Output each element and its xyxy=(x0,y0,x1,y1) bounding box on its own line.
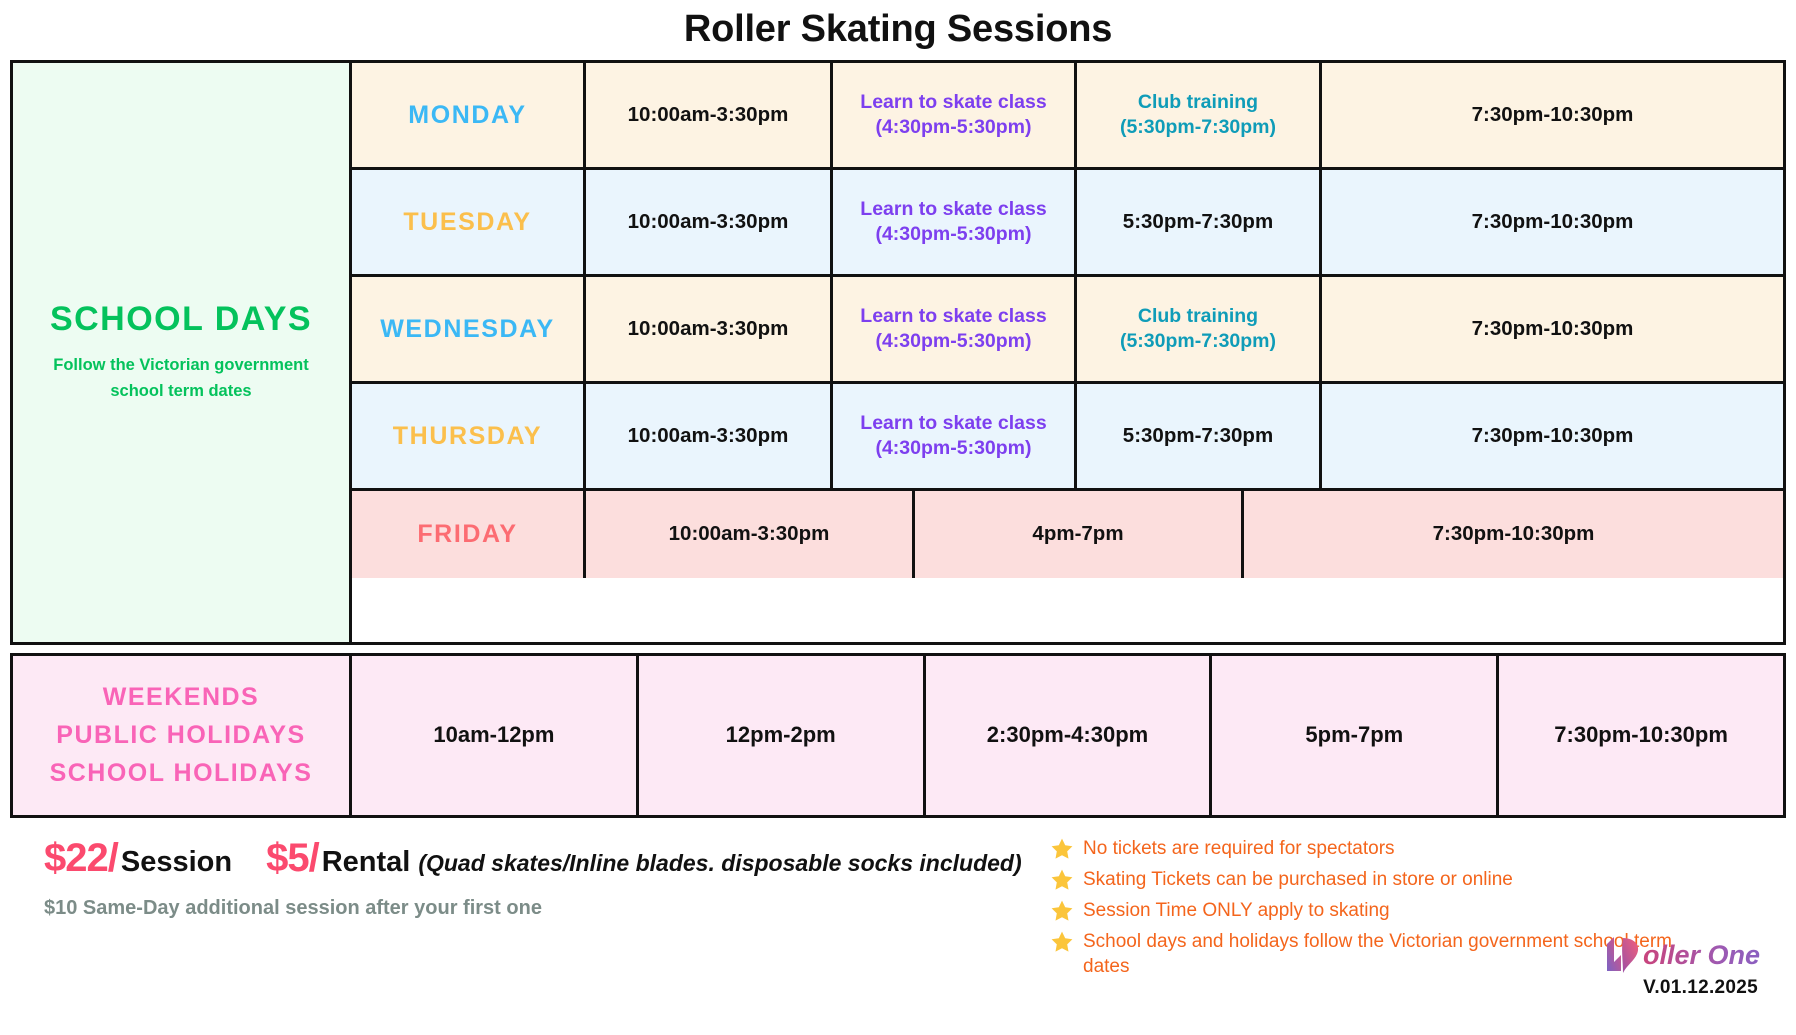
session-time: 10:00am-3:30pm xyxy=(628,102,789,128)
session-time-cell: 5:30pm-7:30pm xyxy=(1074,170,1319,274)
club-training-text: Club training(5:30pm-7:30pm) xyxy=(1120,90,1276,140)
note-item: No tickets are required for spectators xyxy=(1050,836,1760,861)
session-time-cell: 10:00am-3:30pm xyxy=(583,384,830,488)
weekends-label-line: SCHOOL HOLIDAYS xyxy=(50,754,313,792)
rental-price-note: (Quad skates/Inline blades. disposable s… xyxy=(418,850,1021,877)
session-time: 7:30pm-10:30pm xyxy=(1472,316,1634,342)
line-1: Club training xyxy=(1120,90,1276,115)
session-time: 7:30pm-10:30pm xyxy=(1433,521,1595,547)
footer: $22/ Session $5/ Rental (Quad skates/Inl… xyxy=(10,836,1786,985)
learn-to-skate-cell: Learn to skate class(4:30pm-5:30pm) xyxy=(830,384,1074,488)
session-price-amount: $22/ xyxy=(44,836,118,881)
note-item: Session Time ONLY apply to skating xyxy=(1050,898,1760,923)
day-label: TUESDAY xyxy=(403,206,531,238)
weekends-label-panel: WEEKENDSPUBLIC HOLIDAYSSCHOOL HOLIDAYS xyxy=(13,656,352,815)
session-time-cell: 4pm-7pm xyxy=(912,491,1241,578)
weekend-session-time-cell: 12pm-2pm xyxy=(636,656,923,815)
learn-to-skate-text: Learn to skate class(4:30pm-5:30pm) xyxy=(860,90,1046,140)
session-time-cell: 5:30pm-7:30pm xyxy=(1074,384,1319,488)
day-row-friday: FRIDAY10:00am-3:30pm4pm-7pm7:30pm-10:30p… xyxy=(352,488,1783,578)
line-2: (4:30pm-5:30pm) xyxy=(860,436,1046,461)
pricing-block: $22/ Session $5/ Rental (Quad skates/Inl… xyxy=(44,836,1044,920)
line-2: (5:30pm-7:30pm) xyxy=(1120,115,1276,140)
day-name-cell: TUESDAY xyxy=(352,170,583,274)
day-label: FRIDAY xyxy=(417,518,517,550)
day-name-cell: MONDAY xyxy=(352,63,583,167)
weekend-session-time: 7:30pm-10:30pm xyxy=(1554,722,1728,748)
learn-to-skate-cell: Learn to skate class(4:30pm-5:30pm) xyxy=(830,277,1074,381)
day-label: WEDNESDAY xyxy=(380,313,555,345)
session-time-cell: 10:00am-3:30pm xyxy=(583,277,830,381)
day-name-cell: FRIDAY xyxy=(352,491,583,578)
session-time-cell: 10:00am-3:30pm xyxy=(583,63,830,167)
price-line: $22/ Session $5/ Rental (Quad skates/Inl… xyxy=(44,836,1044,881)
page-title: Roller Skating Sessions xyxy=(10,0,1786,60)
weekend-session-time-cell: 2:30pm-4:30pm xyxy=(923,656,1210,815)
note-text: Skating Tickets can be purchased in stor… xyxy=(1083,867,1513,892)
star-icon xyxy=(1050,930,1074,954)
brand-version: V.01.12.2025 xyxy=(1530,977,1758,999)
school-days-panel: SCHOOL DAYS Follow the Victorian governm… xyxy=(13,63,352,642)
day-name-cell: WEDNESDAY xyxy=(352,277,583,381)
weekends-schedule: WEEKENDSPUBLIC HOLIDAYSSCHOOL HOLIDAYS 1… xyxy=(10,653,1786,818)
weekend-session-time: 12pm-2pm xyxy=(726,722,836,748)
day-row-wednesday: WEDNESDAY10:00am-3:30pmLearn to skate cl… xyxy=(352,274,1783,381)
notes-block: No tickets are required for spectatorsSk… xyxy=(1044,836,1760,985)
session-time: 7:30pm-10:30pm xyxy=(1472,102,1634,128)
weekday-rows: MONDAY10:00am-3:30pmLearn to skate class… xyxy=(352,63,1783,642)
line-2: (4:30pm-5:30pm) xyxy=(860,222,1046,247)
weekend-session-time: 2:30pm-4:30pm xyxy=(987,722,1148,748)
learn-to-skate-text: Learn to skate class(4:30pm-5:30pm) xyxy=(860,304,1046,354)
weekend-session-time: 5pm-7pm xyxy=(1305,722,1403,748)
learn-to-skate-text: Learn to skate class(4:30pm-5:30pm) xyxy=(860,197,1046,247)
brand-row: oller One xyxy=(1530,935,1760,975)
line-1: Learn to skate class xyxy=(860,304,1046,329)
session-time: 5:30pm-7:30pm xyxy=(1123,423,1273,449)
star-icon xyxy=(1050,868,1074,892)
session-time-cell: 10:00am-3:30pm xyxy=(583,170,830,274)
session-time-cell: 10:00am-3:30pm xyxy=(583,491,912,578)
session-time: 7:30pm-10:30pm xyxy=(1472,423,1634,449)
schedule-poster: Roller Skating Sessions SCHOOL DAYS Foll… xyxy=(0,0,1796,1035)
star-icon xyxy=(1050,899,1074,923)
note-item: Skating Tickets can be purchased in stor… xyxy=(1050,867,1760,892)
session-time-cell: 7:30pm-10:30pm xyxy=(1319,63,1783,167)
star-icon xyxy=(1050,837,1074,861)
weekends-label-line: PUBLIC HOLIDAYS xyxy=(56,716,305,754)
line-2: (5:30pm-7:30pm) xyxy=(1120,329,1276,354)
weekends-times: 10am-12pm12pm-2pm2:30pm-4:30pm5pm-7pm7:3… xyxy=(352,656,1783,815)
rental-price-unit: Rental xyxy=(322,846,411,879)
session-time-cell: 7:30pm-10:30pm xyxy=(1319,384,1783,488)
weekends-label-line: WEEKENDS xyxy=(103,678,259,716)
same-day-note: $10 Same-Day additional session after yo… xyxy=(44,897,1044,920)
weekend-session-time-cell: 5pm-7pm xyxy=(1209,656,1496,815)
weekend-session-time-cell: 7:30pm-10:30pm xyxy=(1496,656,1783,815)
brand-block: oller One V.01.12.2025 xyxy=(1530,935,1760,999)
line-1: Learn to skate class xyxy=(860,197,1046,222)
school-days-heading: SCHOOL DAYS xyxy=(50,300,312,339)
day-label: THURSDAY xyxy=(393,420,542,452)
session-time: 10:00am-3:30pm xyxy=(628,423,789,449)
line-1: Learn to skate class xyxy=(860,411,1046,436)
school-days-schedule: SCHOOL DAYS Follow the Victorian governm… xyxy=(10,60,1786,645)
note-text: Session Time ONLY apply to skating xyxy=(1083,898,1390,923)
session-time: 10:00am-3:30pm xyxy=(628,316,789,342)
line-1: Learn to skate class xyxy=(860,90,1046,115)
club-training-cell: Club training(5:30pm-7:30pm) xyxy=(1074,63,1319,167)
session-time: 5:30pm-7:30pm xyxy=(1123,209,1273,235)
learn-to-skate-text: Learn to skate class(4:30pm-5:30pm) xyxy=(860,411,1046,461)
weekend-session-time-cell: 10am-12pm xyxy=(352,656,636,815)
line-1: Club training xyxy=(1120,304,1276,329)
session-time: 10:00am-3:30pm xyxy=(669,521,830,547)
session-time-cell: 7:30pm-10:30pm xyxy=(1319,170,1783,274)
session-price-unit: Session xyxy=(121,846,232,879)
school-days-subtitle-line2: school term dates xyxy=(53,379,308,405)
brand-name: oller One xyxy=(1643,940,1760,971)
session-time: 7:30pm-10:30pm xyxy=(1472,209,1634,235)
learn-to-skate-cell: Learn to skate class(4:30pm-5:30pm) xyxy=(830,63,1074,167)
learn-to-skate-cell: Learn to skate class(4:30pm-5:30pm) xyxy=(830,170,1074,274)
note-text: No tickets are required for spectators xyxy=(1083,836,1395,861)
club-training-cell: Club training(5:30pm-7:30pm) xyxy=(1074,277,1319,381)
session-time-cell: 7:30pm-10:30pm xyxy=(1241,491,1783,578)
rental-price-amount: $5/ xyxy=(266,836,319,881)
school-days-subtitle: Follow the Victorian government school t… xyxy=(53,353,308,404)
day-label: MONDAY xyxy=(408,99,526,131)
club-training-text: Club training(5:30pm-7:30pm) xyxy=(1120,304,1276,354)
day-name-cell: THURSDAY xyxy=(352,384,583,488)
line-2: (4:30pm-5:30pm) xyxy=(860,115,1046,140)
day-row-monday: MONDAY10:00am-3:30pmLearn to skate class… xyxy=(352,63,1783,167)
day-row-tuesday: TUESDAY10:00am-3:30pmLearn to skate clas… xyxy=(352,167,1783,274)
session-time-cell: 7:30pm-10:30pm xyxy=(1319,277,1783,381)
roller-one-logo-icon xyxy=(1601,935,1647,975)
session-time: 10:00am-3:30pm xyxy=(628,209,789,235)
line-2: (4:30pm-5:30pm) xyxy=(860,329,1046,354)
weekend-session-time: 10am-12pm xyxy=(433,722,554,748)
school-days-subtitle-line1: Follow the Victorian government xyxy=(53,353,308,379)
session-time: 4pm-7pm xyxy=(1032,521,1123,547)
day-row-thursday: THURSDAY10:00am-3:30pmLearn to skate cla… xyxy=(352,381,1783,488)
